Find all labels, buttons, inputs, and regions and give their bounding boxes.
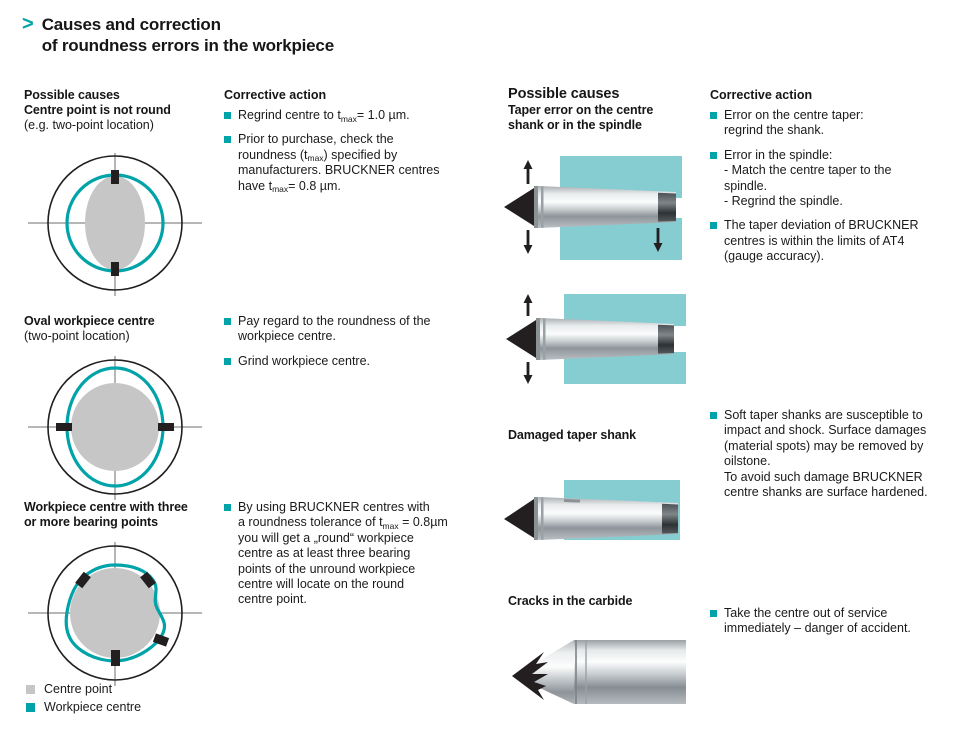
oval-workpiece-note: (two-point location): [24, 329, 214, 344]
bullet-item: Take the centre out of serviceimmediatel…: [710, 606, 950, 637]
bullet-line: Prior to purchase, check the: [238, 132, 474, 147]
bullet-line: Regrind centre to tmax= 1.0 µm.: [238, 108, 474, 123]
bullet-line: oilstone.: [724, 454, 950, 469]
centre-point-not-round-diagram: [20, 148, 210, 298]
legend-swatch-grey-icon: [26, 685, 35, 694]
column3-subheading-line1: Taper error on the centre: [508, 103, 698, 118]
cracks-in-carbide-heading: Cracks in the carbide: [508, 594, 698, 609]
bullet-item: The taper deviation of BRUCKNERcentres i…: [710, 218, 950, 264]
bullet-line: spindle.: [724, 179, 950, 194]
legend-label-centre-point: Centre point: [44, 682, 112, 696]
bullet-line: Error in the spindle:: [724, 148, 950, 163]
bullet-item: Pay regard to the roundness of theworkpi…: [224, 314, 474, 345]
bullet-line: - Regrind the spindle.: [724, 194, 950, 209]
damaged-taper-shank-illustration: [498, 450, 698, 555]
bullet-line: centres is within the limits of AT4: [724, 234, 950, 249]
bullet-line: manufacturers. BRUCKNER centres: [238, 163, 474, 178]
bullet-square-icon: [710, 222, 717, 229]
bullet-square-icon: [710, 412, 717, 419]
bullet-item: Prior to purchase, check theroundness (t…: [224, 132, 474, 194]
cracked-carbide-tip-illustration: [498, 612, 698, 712]
legend-item-workpiece-centre: Workpiece centre: [26, 698, 141, 716]
page-title: > Causes and correction of roundness err…: [22, 14, 334, 56]
bullet-line: Soft taper shanks are susceptible to: [724, 408, 950, 423]
column3-heading-block: Possible causes Taper error on the centr…: [508, 86, 698, 133]
three-bearing-points-diagram: [20, 538, 210, 688]
bullet-line: centre shanks are surface hardened.: [724, 485, 950, 500]
bullet-square-icon: [224, 504, 231, 511]
bullet-square-icon: [710, 610, 717, 617]
bullet-line: workpiece centre.: [238, 329, 474, 344]
bullet-line: centre point.: [238, 592, 474, 607]
cracks-in-carbide-heading-block: Cracks in the carbide: [508, 594, 698, 609]
column2-group2-block: Pay regard to the roundness of theworkpi…: [224, 314, 474, 369]
legend-item-centre-point: Centre point: [26, 680, 141, 698]
bullet-line: Grind workpiece centre.: [238, 354, 474, 369]
bullet-line: (gauge accuracy).: [724, 249, 950, 264]
bullet-line: a roundness tolerance of tmax = 0.8µm: [238, 515, 474, 530]
column1-case3-heading-block: Workpiece centre with three or more bear…: [24, 500, 214, 530]
damaged-taper-shank-heading: Damaged taper shank: [508, 428, 698, 443]
bullet-line: centre will locate on the round: [238, 577, 474, 592]
bullet-square-icon: [224, 112, 231, 119]
column1-note: (e.g. two-point location): [24, 118, 214, 133]
bullet-square-icon: [224, 318, 231, 325]
column3-subheading-line2: shank or in the spindle: [508, 118, 698, 133]
bullet-line: Error on the centre taper:: [724, 108, 950, 123]
bullet-line: The taper deviation of BRUCKNER: [724, 218, 950, 233]
document-page: > Causes and correction of roundness err…: [0, 0, 960, 744]
damaged-taper-shank-heading-block: Damaged taper shank: [508, 428, 698, 443]
column1-subheading: Centre point is not round: [24, 103, 214, 118]
bullet-line: impact and shock. Surface damages: [724, 423, 950, 438]
column3-heading: Possible causes: [508, 86, 698, 103]
bullet-line: Take the centre out of service: [724, 606, 950, 621]
column2-bullet-list-2: Pay regard to the roundness of theworkpi…: [224, 314, 474, 369]
column4-group3-block: Take the centre out of serviceimmediatel…: [710, 606, 950, 637]
bullet-line: Pay regard to the roundness of the: [238, 314, 474, 329]
legend-label-workpiece-centre: Workpiece centre: [44, 700, 141, 714]
column2-heading-block: Corrective action Regrind centre to tmax…: [224, 88, 474, 194]
bullet-item: Regrind centre to tmax= 1.0 µm.: [224, 108, 474, 123]
column4-heading: Corrective action: [710, 88, 950, 103]
title-text: Causes and correction of roundness error…: [42, 14, 334, 56]
column2-heading: Corrective action: [224, 88, 474, 103]
column1-case2-heading-block: Oval workpiece centre (two-point locatio…: [24, 314, 214, 344]
bullet-item: Grind workpiece centre.: [224, 354, 474, 369]
bullet-square-icon: [224, 358, 231, 365]
bullet-line: centre as at least three bearing: [238, 546, 474, 561]
centre-in-spindle-taper-error-single: [498, 288, 698, 393]
bullet-line: have tmax= 0.8 µm.: [238, 179, 474, 194]
title-line-2: of roundness errors in the workpiece: [42, 35, 334, 56]
bullet-item: Soft taper shanks are susceptible toimpa…: [710, 408, 950, 500]
centre-in-spindle-taper-error-up-down: [498, 148, 698, 263]
bullet-square-icon: [710, 152, 717, 159]
column2-bullet-list-3: By using BRUCKNER centres witha roundnes…: [224, 500, 474, 608]
bullet-square-icon: [224, 136, 231, 143]
bullet-line: roundness (tmax) specified by: [238, 148, 474, 163]
legend-swatch-teal-icon: [26, 703, 35, 712]
three-bearing-heading-line2: or more bearing points: [24, 515, 214, 530]
column4-group2-block: Soft taper shanks are susceptible toimpa…: [710, 408, 950, 500]
bullet-line: By using BRUCKNER centres with: [238, 500, 474, 515]
column2-bullet-list-1: Regrind centre to tmax= 1.0 µm.Prior to …: [224, 108, 474, 194]
title-line-1: Causes and correction: [42, 14, 334, 35]
oval-workpiece-centre-diagram: [20, 352, 210, 502]
bullet-line: regrind the shank.: [724, 123, 950, 138]
bullet-line: immediately – danger of accident.: [724, 621, 950, 636]
column1-heading: Possible causes: [24, 88, 214, 103]
column2-group3-block: By using BRUCKNER centres witha roundnes…: [224, 500, 474, 608]
bullet-item: Error on the centre taper:regrind the sh…: [710, 108, 950, 139]
diagram-legend: Centre point Workpiece centre: [26, 680, 141, 716]
bullet-line: (material spots) may be removed by: [724, 439, 950, 454]
column1-heading-block: Possible causes Centre point is not roun…: [24, 88, 214, 133]
bullet-line: points of the unround workpiece: [238, 562, 474, 577]
bullet-line: you will get a „round“ workpiece: [238, 531, 474, 546]
bullet-square-icon: [710, 112, 717, 119]
three-bearing-heading-line1: Workpiece centre with three: [24, 500, 214, 515]
bullet-line: - Match the centre taper to the: [724, 163, 950, 178]
bullet-line: To avoid such damage BRUCKNER: [724, 470, 950, 485]
chevron-right-icon: >: [22, 14, 34, 35]
column4-bullet-list-3: Take the centre out of serviceimmediatel…: [710, 606, 950, 637]
bullet-item: Error in the spindle:- Match the centre …: [710, 148, 950, 210]
oval-workpiece-heading: Oval workpiece centre: [24, 314, 214, 329]
bullet-item: By using BRUCKNER centres witha roundnes…: [224, 500, 474, 608]
column4-bullet-list-2: Soft taper shanks are susceptible toimpa…: [710, 408, 950, 500]
column4-heading-block: Corrective action Error on the centre ta…: [710, 88, 950, 265]
column4-bullet-list-1: Error on the centre taper:regrind the sh…: [710, 108, 950, 265]
